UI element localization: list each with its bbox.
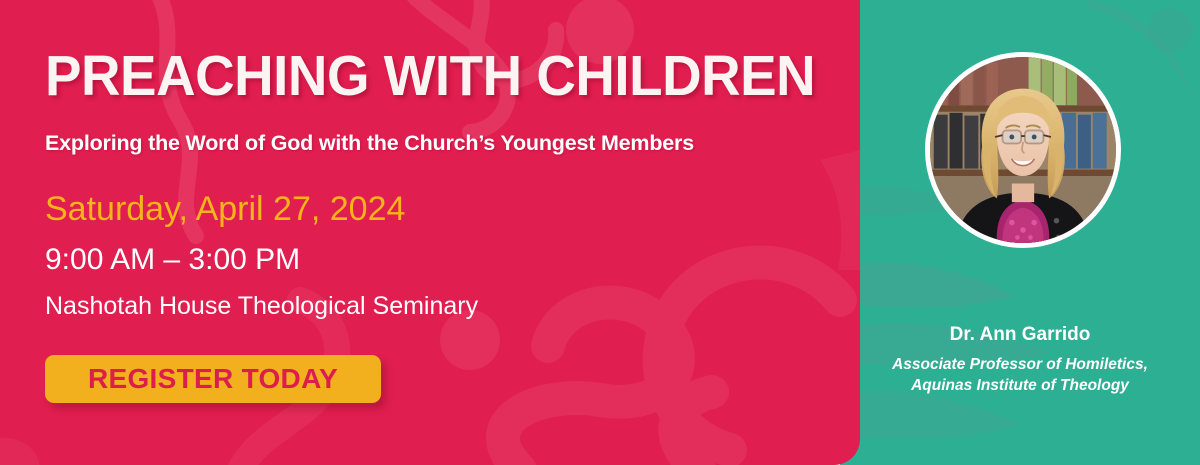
speaker-panel: Dr. Ann Garrido Associate Professor of H… xyxy=(840,0,1200,465)
event-subtitle: Exploring the Word of God with the Churc… xyxy=(45,133,694,155)
event-text-content: PREACHING WITH CHILDREN Exploring the Wo… xyxy=(45,0,835,465)
event-title: PREACHING WITH CHILDREN xyxy=(45,48,815,105)
register-today-button[interactable]: REGISTER TODAY xyxy=(45,355,381,403)
event-details-panel: PREACHING WITH CHILDREN Exploring the Wo… xyxy=(0,0,860,465)
event-venue: Nashotah House Theological Seminary xyxy=(45,294,478,319)
speaker-role-line-2: Aquinas Institute of Theology xyxy=(911,377,1129,394)
event-promo-banner: Dr. Ann Garrido Associate Professor of H… xyxy=(0,0,1200,465)
portrait-illustration xyxy=(930,57,1116,243)
speaker-role-line-1: Associate Professor of Homiletics, xyxy=(892,356,1148,373)
speaker-role: Associate Professor of Homiletics, Aquin… xyxy=(840,355,1200,397)
event-date: Saturday, April 27, 2024 xyxy=(45,192,405,226)
speaker-name: Dr. Ann Garrido xyxy=(840,325,1200,344)
event-time: 9:00 AM – 3:00 PM xyxy=(45,245,300,275)
speaker-portrait xyxy=(925,52,1121,248)
